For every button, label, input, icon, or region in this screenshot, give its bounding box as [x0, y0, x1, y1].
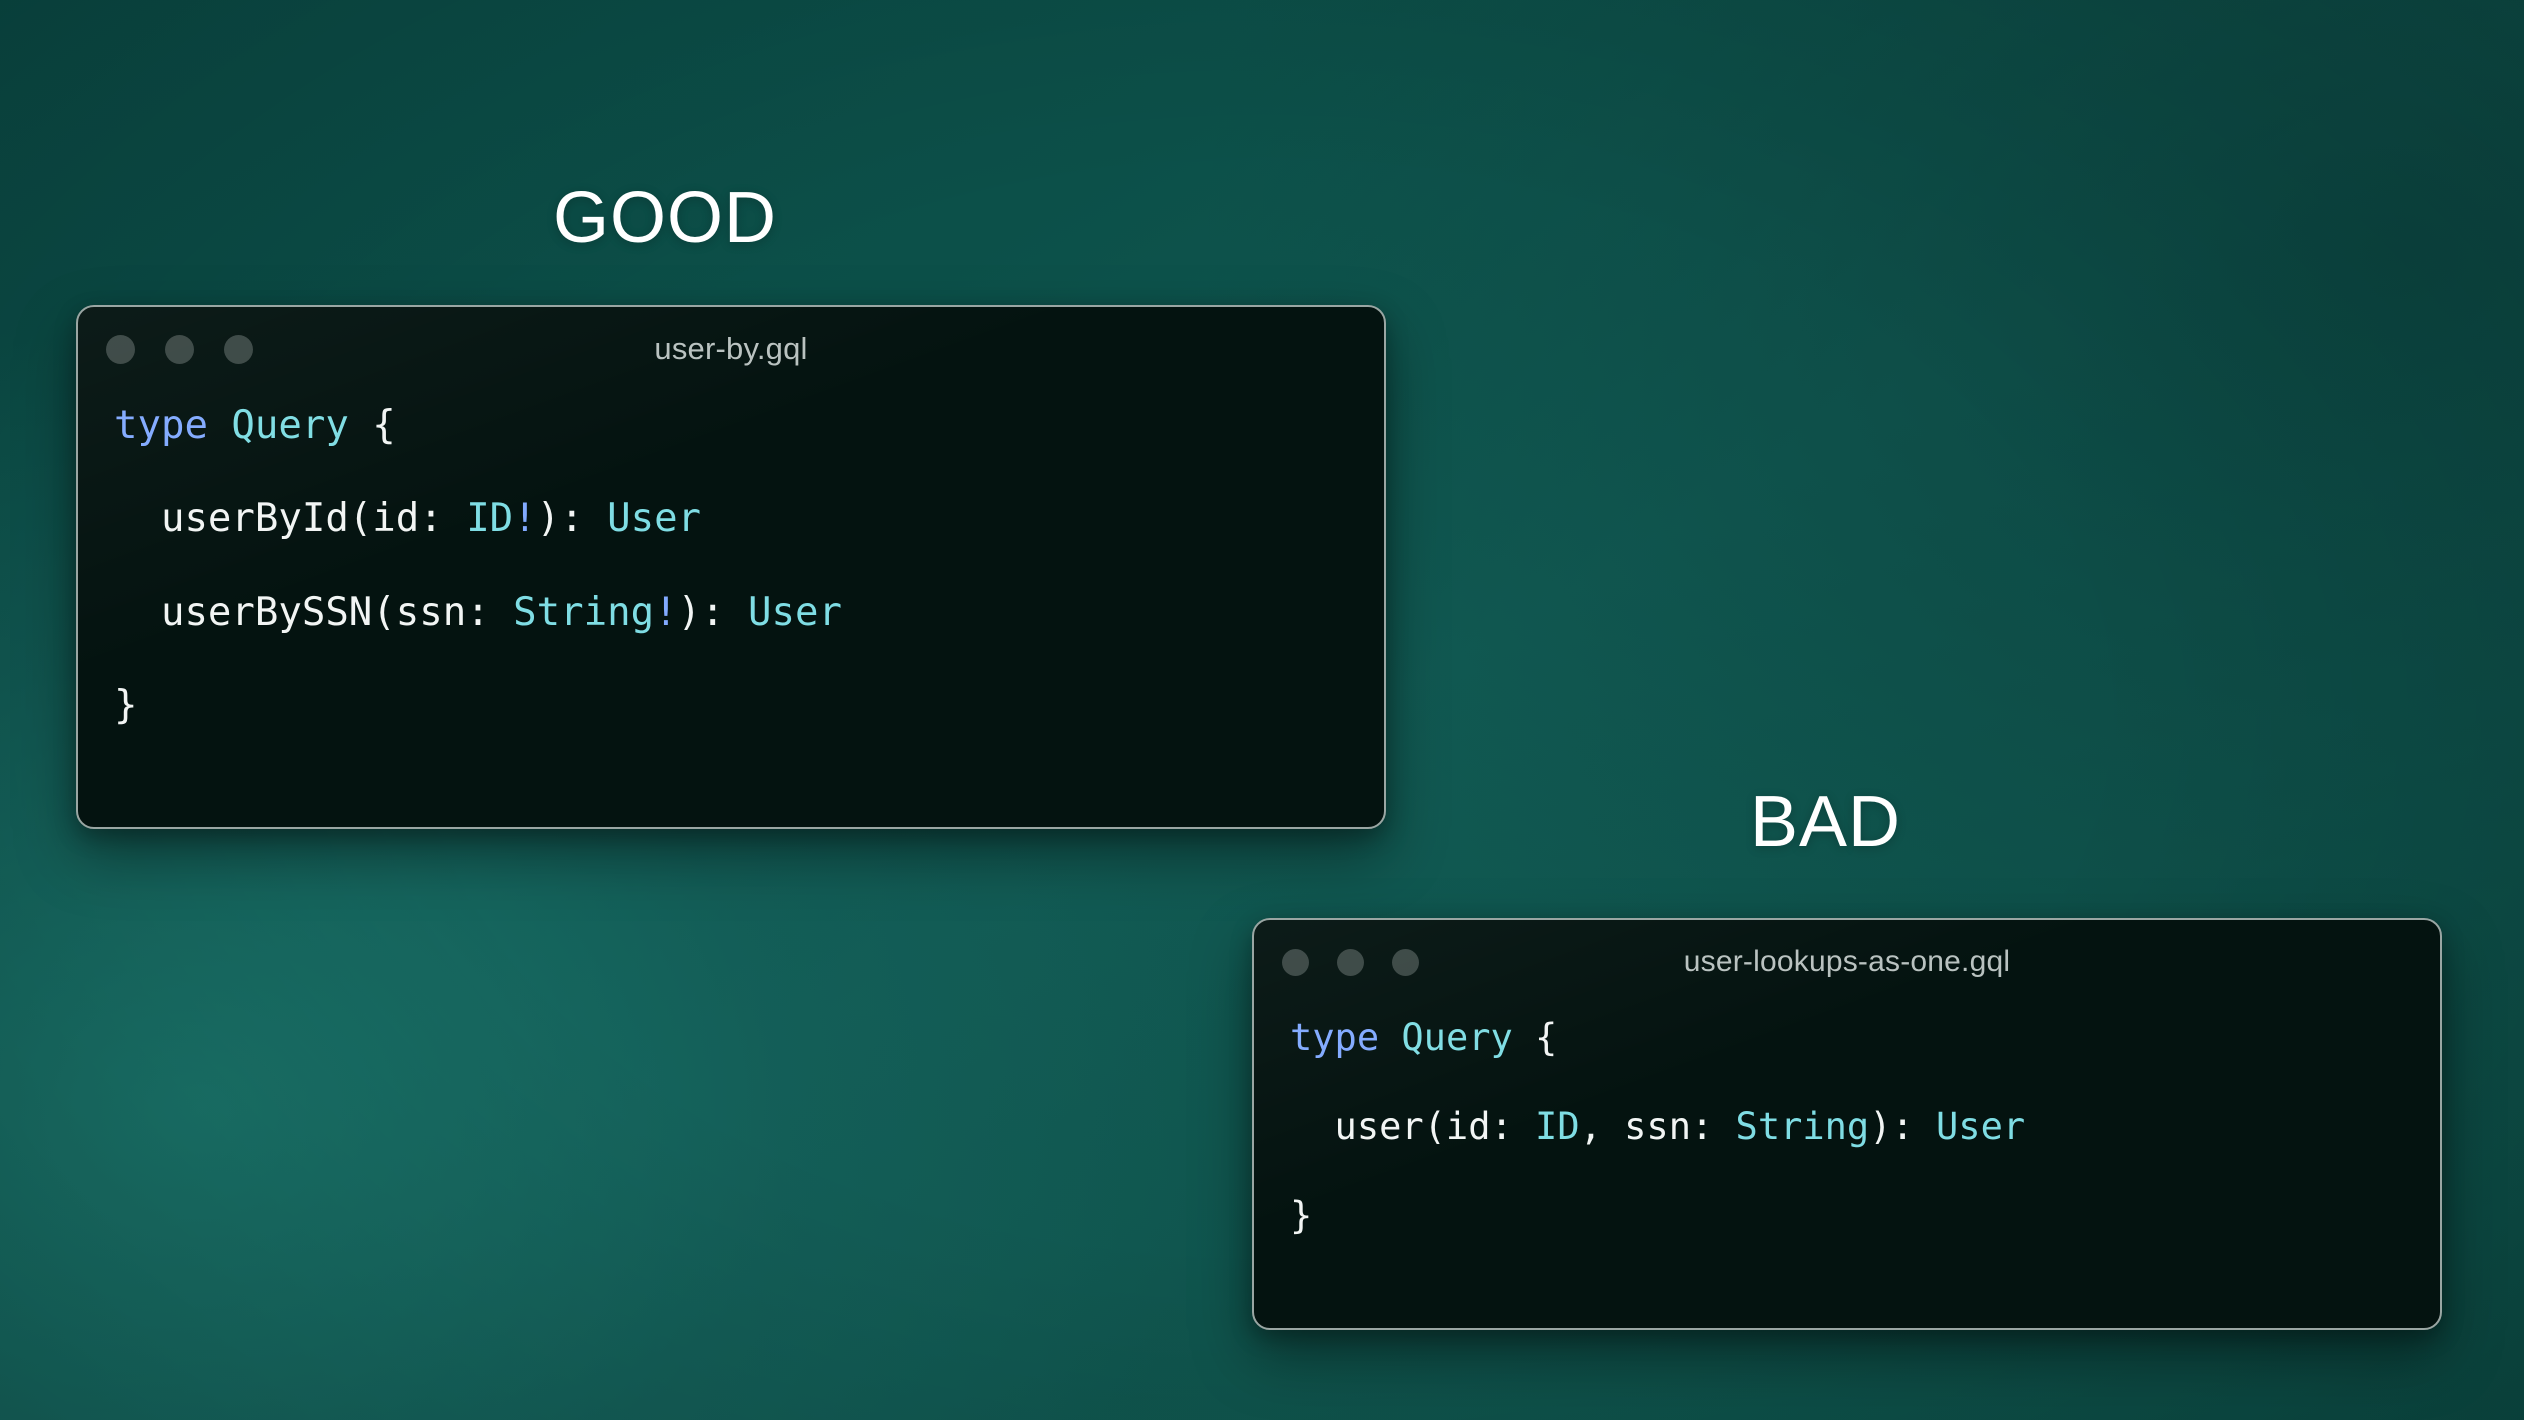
maximize-dot-icon[interactable] — [1392, 949, 1419, 976]
code-token: type — [114, 403, 208, 448]
code-token: { — [1513, 1016, 1558, 1059]
minimize-dot-icon[interactable] — [1337, 949, 1364, 976]
code-token — [208, 403, 231, 448]
code-token: { — [349, 403, 396, 448]
code-token: user(id: — [1290, 1105, 1535, 1148]
close-dot-icon[interactable] — [106, 335, 135, 364]
code-token: String — [1736, 1105, 1870, 1148]
code-window-good[interactable]: user-by.gql type Query { userById(id: ID… — [76, 305, 1386, 829]
code-token: } — [114, 683, 137, 728]
code-line: } — [1290, 1194, 2440, 1238]
code-token: String — [513, 590, 654, 635]
code-token: ID — [466, 496, 513, 541]
label-bad: BAD — [1750, 786, 1901, 858]
code-token: User — [748, 590, 842, 635]
code-body-good[interactable]: type Query { userById(id: ID!): User use… — [78, 391, 1384, 730]
code-line: userById(id: ID!): User — [114, 496, 1384, 543]
code-token: Query — [1401, 1016, 1512, 1059]
window-filename-good: user-by.gql — [78, 331, 1384, 367]
code-token: userBySSN(ssn: — [114, 590, 513, 635]
code-line: userBySSN(ssn: String!): User — [114, 590, 1384, 637]
code-line: user(id: ID, ssn: String): User — [1290, 1105, 2440, 1149]
code-token — [1379, 1016, 1401, 1059]
code-line: type Query { — [114, 403, 1384, 450]
maximize-dot-icon[interactable] — [224, 335, 253, 364]
code-token: User — [607, 496, 701, 541]
code-window-bad[interactable]: user-lookups-as-one.gql type Query { use… — [1252, 918, 2442, 1330]
code-token: User — [1936, 1105, 2025, 1148]
code-token: ): — [1869, 1105, 1936, 1148]
code-token: ! — [513, 496, 536, 541]
traffic-lights-bad — [1282, 949, 1419, 976]
traffic-lights-good — [106, 335, 253, 364]
window-titlebar-good: user-by.gql — [78, 307, 1384, 391]
code-token: type — [1290, 1016, 1379, 1059]
close-dot-icon[interactable] — [1282, 949, 1309, 976]
code-token: userById(id: — [114, 496, 466, 541]
code-token: ): — [678, 590, 748, 635]
label-good: GOOD — [553, 182, 777, 254]
code-token: ! — [654, 590, 677, 635]
code-token: Query — [231, 403, 348, 448]
code-line: } — [114, 683, 1384, 730]
window-titlebar-bad: user-lookups-as-one.gql — [1254, 920, 2440, 1004]
window-filename-bad: user-lookups-as-one.gql — [1254, 945, 2440, 979]
code-line: type Query { — [1290, 1016, 2440, 1060]
code-token: , ssn: — [1580, 1105, 1736, 1148]
code-token: ID — [1535, 1105, 1580, 1148]
code-token: ): — [537, 496, 607, 541]
code-token: } — [1290, 1194, 1312, 1237]
code-body-bad[interactable]: type Query { user(id: ID, ssn: String): … — [1254, 1004, 2440, 1238]
minimize-dot-icon[interactable] — [165, 335, 194, 364]
